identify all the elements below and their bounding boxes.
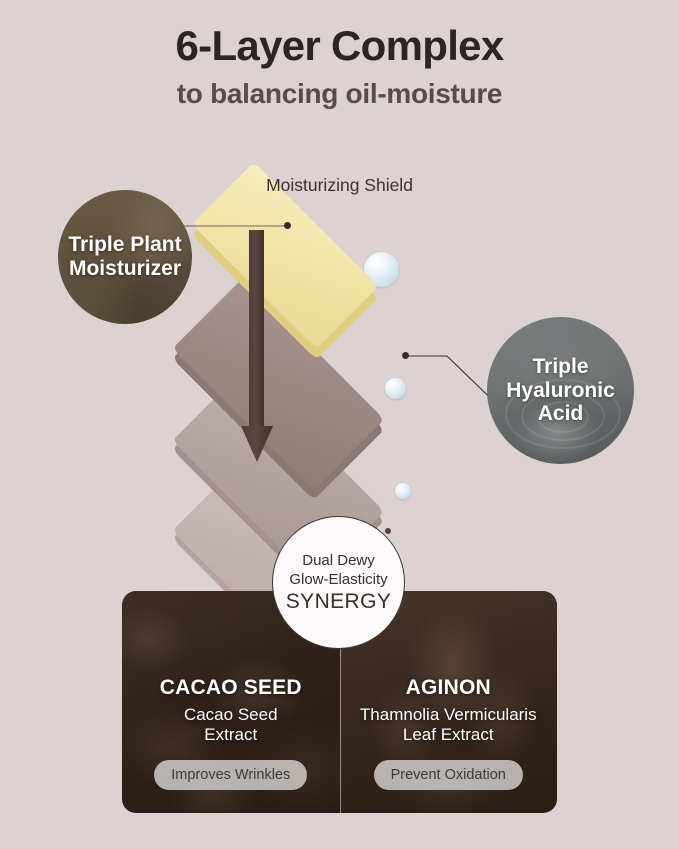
badge-plant-label: Triple Plant Moisturizer bbox=[62, 233, 187, 280]
badge-plant-line2: Moisturizer bbox=[68, 257, 181, 281]
aginon-subtitle-line1: Thamnolia Vermicularis bbox=[360, 705, 537, 726]
droplet-small-4 bbox=[395, 483, 411, 499]
cacao-card-content: CACAO SEED Cacao Seed Extract Improves W… bbox=[122, 676, 340, 790]
connector-dot-hyaluronic bbox=[402, 352, 409, 359]
page-subtitle: to balancing oil-moisture bbox=[0, 78, 679, 110]
cacao-subtitle: Cacao Seed Extract bbox=[174, 705, 288, 746]
infographic-page: 6-Layer Complex to balancing oil-moistur… bbox=[0, 0, 679, 849]
synergy-line3: SYNERGY bbox=[286, 590, 392, 614]
synergy-line2: Glow-Elasticity bbox=[289, 570, 387, 589]
page-title: 6-Layer Complex bbox=[0, 22, 679, 70]
cacao-benefit-pill[interactable]: Improves Wrinkles bbox=[154, 760, 307, 790]
cacao-subtitle-line2: Extract bbox=[184, 725, 278, 746]
aginon-benefit-pill[interactable]: Prevent Oxidation bbox=[374, 760, 523, 790]
cacao-title: CACAO SEED bbox=[160, 676, 302, 700]
aginon-subtitle-line2: Leaf Extract bbox=[360, 725, 537, 746]
badge-ha-line2: Hyaluronic bbox=[506, 379, 615, 403]
badge-synergy[interactable]: Dual Dewy Glow-Elasticity SYNERGY bbox=[272, 516, 405, 649]
badge-triple-plant-moisturizer[interactable]: Triple Plant Moisturizer bbox=[58, 190, 192, 324]
aginon-card-content: AGINON Thamnolia Vermicularis Leaf Extra… bbox=[340, 676, 558, 790]
cacao-subtitle-line1: Cacao Seed bbox=[184, 705, 278, 726]
badge-triple-hyaluronic-acid[interactable]: Triple Hyaluronic Acid bbox=[487, 317, 634, 464]
synergy-line1: Dual Dewy bbox=[302, 551, 375, 570]
aginon-title: AGINON bbox=[406, 676, 491, 700]
droplet-medium-3 bbox=[385, 378, 406, 399]
aginon-subtitle: Thamnolia Vermicularis Leaf Extract bbox=[350, 705, 547, 746]
badge-plant-line1: Triple Plant bbox=[68, 233, 181, 257]
connector-dot-plant bbox=[284, 222, 291, 229]
badge-ha-label: Triple Hyaluronic Acid bbox=[500, 355, 621, 426]
absorption-arrow-icon bbox=[240, 230, 274, 465]
badge-ha-line1: Triple bbox=[506, 355, 615, 379]
connector-dot-synergy bbox=[385, 528, 391, 534]
badge-ha-line3: Acid bbox=[506, 402, 615, 426]
